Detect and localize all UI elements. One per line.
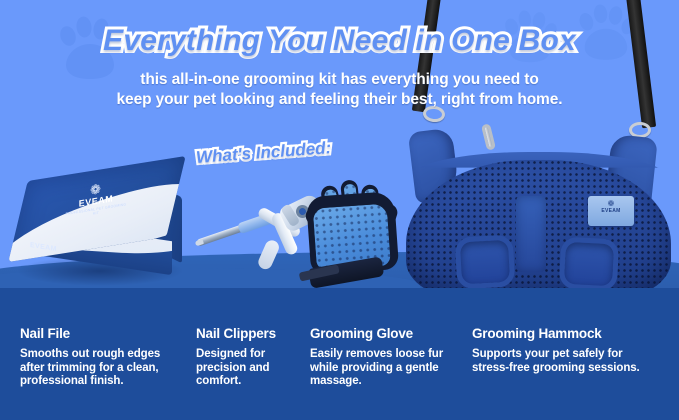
subheading-line-1: this all-in-one grooming kit has everyth… (0, 70, 679, 90)
grooming-glove-image (301, 185, 404, 295)
clipper-grip (256, 238, 281, 271)
feature-title: Grooming Hammock (472, 326, 668, 341)
feature-title: Nail File (20, 326, 192, 341)
feature-line: precision and (196, 362, 269, 374)
feature-title: Nail Clippers (196, 326, 302, 341)
feature-caption-band: Nail File Smooths out rough edges after … (0, 288, 679, 420)
subheading-line-2: keep your pet looking and feeling their … (0, 90, 679, 110)
feature-line: comfort. (196, 375, 241, 387)
hammock-patch-label: EVEAM (588, 208, 634, 214)
feature-nail-clippers: Nail Clippers Designed for precision and… (196, 326, 302, 389)
infographic-canvas: Everything You Need in One Box this all-… (0, 0, 679, 420)
hammock-brand-patch: ❁ EVEAM (588, 196, 634, 226)
feature-nail-file: Nail File Smooths out rough edges after … (20, 326, 192, 389)
feature-line: after trimming for a clean, (20, 362, 159, 374)
feature-description: Supports your pet safely for stress-free… (472, 348, 668, 375)
product-box-image: ❁ EVEAM PROFESSIONAL PET GROOMING KIT EV… (12, 168, 188, 298)
hammock-leg-hole-left (455, 235, 516, 290)
feature-grooming-hammock: Grooming Hammock Supports your pet safel… (472, 326, 668, 375)
feature-description: Smooths out rough edges after trimming f… (20, 348, 192, 389)
hammock-leg-hole-right (559, 237, 620, 292)
feature-description: Designed for precision and comfort. (196, 348, 302, 389)
feature-line: Designed for (196, 348, 265, 360)
feature-title: Grooming Glove (310, 326, 462, 341)
feature-line: Supports your pet safely for (472, 348, 623, 360)
carabiner-left-icon (481, 123, 496, 150)
page-title: Everything You Need in One Box (0, 24, 679, 58)
feature-line: Smooths out rough edges (20, 348, 160, 360)
feature-line: stress-free grooming sessions. (472, 362, 640, 374)
feature-line: professional finish. (20, 375, 123, 387)
hammock-center-strap (516, 196, 546, 272)
subheading: this all-in-one grooming kit has everyth… (0, 70, 679, 110)
feature-line: Easily removes loose fur (310, 348, 443, 360)
feature-grooming-glove: Grooming Glove Easily removes loose fur … (310, 326, 462, 389)
feature-line: massage. (310, 375, 362, 387)
paw-logo-icon: ❁ (588, 200, 634, 208)
feature-line: while providing a gentle (310, 362, 439, 374)
feature-description: Easily removes loose fur while providing… (310, 348, 462, 389)
